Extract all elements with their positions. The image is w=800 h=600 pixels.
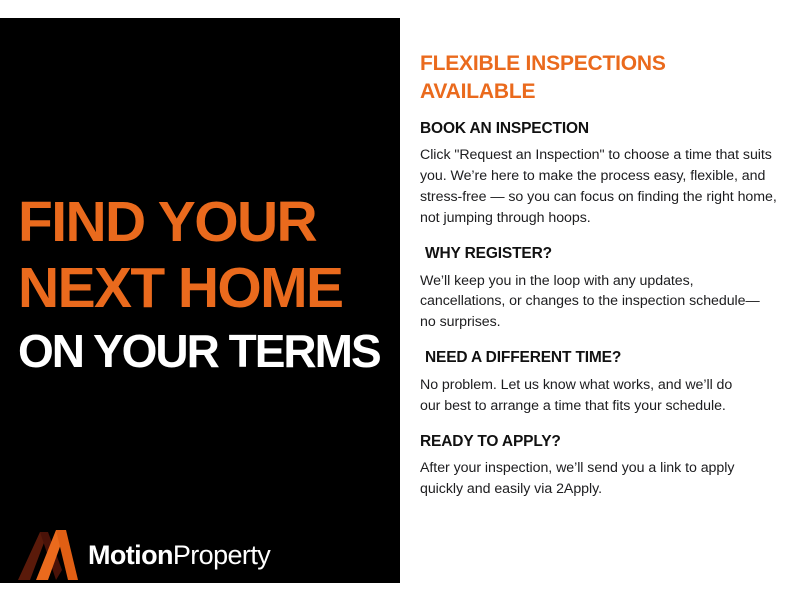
section-heading-book-an-inspection: BOOK AN INSPECTION xyxy=(420,120,792,139)
section-heading-ready-to-apply: READY TO APPLY? xyxy=(420,433,792,452)
brand-logo: MotionProperty xyxy=(18,529,270,581)
section-body-need-a-different-time: No problem. Let us know what works, and … xyxy=(420,375,750,417)
content-title: FLEXIBLE INSPECTIONS AVAILABLE xyxy=(420,50,720,106)
section-book-an-inspection: BOOK AN INSPECTION Click "Request an Ins… xyxy=(420,120,792,229)
section-body-ready-to-apply: After your inspection, we’ll send you a … xyxy=(420,458,750,500)
hero-headline-line-2: NEXT HOME xyxy=(18,260,390,316)
section-body-book-an-inspection: Click "Request an Inspection" to choose … xyxy=(420,145,790,229)
brand-wordmark-secondary: Property xyxy=(173,540,270,570)
section-need-a-different-time: NEED A DIFFERENT TIME? No problem. Let u… xyxy=(420,349,792,416)
hero-headline-line-3: ON YOUR TERMS xyxy=(18,329,390,375)
section-ready-to-apply: READY TO APPLY? After your inspection, w… xyxy=(420,433,792,500)
brand-wordmark: MotionProperty xyxy=(88,542,270,569)
motion-property-m-logo-icon xyxy=(18,530,78,580)
flyer-page: FIND YOUR NEXT HOME ON YOUR TERMS Motion… xyxy=(0,0,800,600)
brand-wordmark-primary: Motion xyxy=(88,540,173,570)
hero-headline: FIND YOUR NEXT HOME ON YOUR TERMS xyxy=(18,194,390,374)
hero-headline-line-1: FIND YOUR xyxy=(18,194,390,250)
content-inner: FLEXIBLE INSPECTIONS AVAILABLE BOOK AN I… xyxy=(420,50,792,516)
section-body-why-register: We’ll keep you in the loop with any upda… xyxy=(420,271,770,334)
section-heading-why-register: WHY REGISTER? xyxy=(420,245,792,264)
hero-panel: FIND YOUR NEXT HOME ON YOUR TERMS Motion… xyxy=(0,18,400,583)
section-heading-need-a-different-time: NEED A DIFFERENT TIME? xyxy=(420,349,792,368)
content-panel: FLEXIBLE INSPECTIONS AVAILABLE BOOK AN I… xyxy=(400,0,800,600)
section-why-register: WHY REGISTER? We’ll keep you in the loop… xyxy=(420,245,792,333)
